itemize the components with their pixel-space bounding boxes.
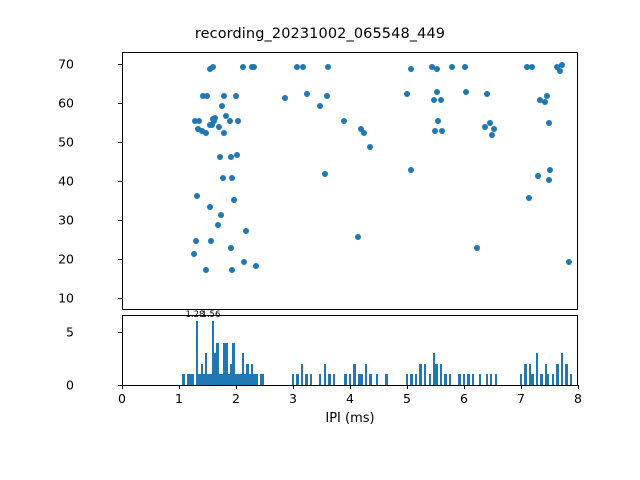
scatter-point (219, 103, 225, 109)
histogram-bar (262, 374, 264, 385)
scatter-point (489, 132, 495, 138)
x-tick-mark (293, 385, 294, 389)
scatter-point (408, 66, 414, 72)
x-axis-label: IPI (ms) (122, 411, 578, 426)
scatter-point (355, 234, 361, 240)
scatter-y-tick-label: 60 (34, 95, 74, 110)
scatter-point (432, 128, 438, 134)
scatter-point (253, 263, 259, 269)
scatter-point (542, 99, 548, 105)
histogram-y-tick-mark (118, 332, 122, 333)
scatter-point (282, 95, 288, 101)
histogram-bar (536, 353, 538, 385)
histogram-bar (495, 374, 497, 385)
scatter-point (233, 93, 239, 99)
scatter-point (408, 167, 414, 173)
scatter-point (566, 259, 572, 265)
scatter-point (544, 93, 550, 99)
x-tick-mark (236, 385, 237, 389)
x-tick-label: 6 (449, 391, 479, 406)
scatter-point (207, 204, 213, 210)
x-tick-mark (407, 385, 408, 389)
histogram-bar (547, 374, 549, 385)
scatter-point (367, 144, 373, 150)
scatter-point (221, 130, 227, 136)
histogram-bar (540, 374, 542, 385)
scatter-y-tick-mark (118, 64, 122, 65)
histogram-bar (310, 374, 312, 385)
histogram-bar (570, 374, 572, 385)
scatter-point (526, 195, 532, 201)
scatter-point (361, 130, 367, 136)
histogram-bar (435, 364, 437, 385)
histogram-bar (467, 374, 469, 385)
scatter-point (484, 91, 490, 97)
scatter-point (217, 154, 223, 160)
x-tick-label: 5 (392, 391, 422, 406)
scatter-point (216, 124, 222, 130)
x-tick-label: 7 (506, 391, 536, 406)
histogram-bar (410, 374, 412, 385)
histogram-axes (122, 315, 578, 385)
x-tick-label: 4 (335, 391, 365, 406)
histogram-series (123, 316, 577, 385)
histogram-bar (324, 364, 326, 385)
histogram-bar (292, 374, 294, 385)
scatter-point (243, 228, 249, 234)
scatter-y-tick-label: 30 (34, 213, 74, 228)
x-tick-mark (521, 385, 522, 389)
histogram-bar (463, 374, 465, 385)
scatter-point (300, 64, 306, 70)
scatter-y-tick-label: 20 (34, 252, 74, 267)
scatter-point (322, 171, 328, 177)
scatter-point (196, 118, 202, 124)
scatter-point (434, 89, 440, 95)
scatter-point (491, 126, 497, 132)
scatter-point (546, 120, 552, 126)
histogram-bar (472, 374, 474, 385)
histogram-bar (385, 374, 387, 385)
scatter-point (304, 91, 310, 97)
scatter-point (431, 97, 437, 103)
scatter-point (240, 64, 246, 70)
x-tick-label: 3 (278, 391, 308, 406)
histogram-bar (333, 374, 335, 385)
histogram-bar (449, 374, 451, 385)
scatter-point (324, 93, 330, 99)
scatter-y-tick-label: 70 (34, 56, 74, 71)
scatter-point (194, 193, 200, 199)
x-tick-label: 2 (221, 391, 251, 406)
scatter-point (234, 152, 240, 158)
scatter-y-tick-mark (118, 220, 122, 221)
scatter-y-tick-label: 40 (34, 174, 74, 189)
scatter-point (434, 66, 440, 72)
histogram-bar (524, 364, 526, 385)
histogram-bar (305, 374, 307, 385)
scatter-point (215, 222, 221, 228)
scatter-point (191, 251, 197, 257)
histogram-bar (182, 374, 184, 385)
x-tick-mark (122, 385, 123, 389)
scatter-point (221, 93, 227, 99)
histogram-bar (552, 374, 554, 385)
scatter-point (474, 245, 480, 251)
scatter-point (229, 267, 235, 273)
histogram-bar (424, 364, 426, 385)
scatter-y-tick-mark (118, 298, 122, 299)
scatter-point (241, 259, 247, 265)
x-tick-label: 1 (164, 391, 194, 406)
histogram-bar (349, 374, 351, 385)
scatter-point (193, 238, 199, 244)
histogram-bar (419, 364, 421, 385)
peak-value-label: 1.56 (201, 310, 220, 320)
scatter-point (557, 68, 563, 74)
scatter-point (462, 64, 468, 70)
histogram-bar (191, 374, 193, 385)
histogram-bar (255, 374, 257, 385)
histogram-bar (520, 374, 522, 385)
scatter-point (317, 103, 323, 109)
histogram-bar (328, 374, 330, 385)
histogram-bar (458, 374, 460, 385)
scatter-y-tick-label: 50 (34, 134, 74, 149)
scatter-point (210, 64, 216, 70)
scatter-y-tick-mark (118, 103, 122, 104)
histogram-bar (365, 364, 367, 385)
scatter-point (220, 175, 226, 181)
page-title: recording_20231002_065548_449 (0, 26, 640, 42)
scatter-point (463, 89, 469, 95)
scatter-point (546, 177, 552, 183)
scatter-point (229, 175, 235, 181)
scatter-point (228, 245, 234, 251)
histogram-bar (561, 353, 563, 385)
histogram-bar (344, 374, 346, 385)
histogram-bar (353, 364, 355, 385)
scatter-point (212, 115, 218, 121)
histogram-bar (490, 374, 492, 385)
histogram-bar (369, 374, 371, 385)
figure-canvas: recording_20231002_065548_449 t (s) 1020… (0, 0, 640, 480)
scatter-point (203, 130, 209, 136)
scatter-point (435, 118, 441, 124)
x-tick-label: 8 (563, 391, 593, 406)
scatter-point (204, 93, 210, 99)
histogram-bar (440, 364, 442, 385)
scatter-point (449, 64, 455, 70)
scatter-point (325, 64, 331, 70)
histogram-bar (319, 374, 321, 385)
x-tick-mark (464, 385, 465, 389)
x-tick-label: 0 (107, 391, 137, 406)
scatter-point (218, 212, 224, 218)
scatter-point (547, 167, 553, 173)
scatter-y-tick-label: 10 (34, 291, 74, 306)
histogram-bar (301, 364, 303, 385)
scatter-point (208, 238, 214, 244)
scatter-point (203, 267, 209, 273)
histogram-y-tick-label: 5 (34, 324, 74, 339)
scatter-point (438, 97, 444, 103)
histogram-bar (376, 374, 378, 385)
x-tick-mark (578, 385, 579, 389)
scatter-y-tick-mark (118, 259, 122, 260)
scatter-y-tick-mark (118, 181, 122, 182)
x-tick-mark (179, 385, 180, 389)
histogram-bar (556, 364, 558, 385)
scatter-series (123, 53, 577, 309)
histogram-bar (486, 374, 488, 385)
histogram-bar (360, 374, 362, 385)
histogram-bar (531, 374, 533, 385)
histogram-bar (429, 374, 431, 385)
scatter-point (404, 91, 410, 97)
scatter-point (341, 118, 347, 124)
histogram-y-tick-label: 0 (34, 378, 74, 393)
histogram-bar (406, 374, 408, 385)
scatter-point (235, 118, 241, 124)
scatter-point (439, 128, 445, 134)
scatter-point (559, 62, 565, 68)
histogram-bar (444, 374, 446, 385)
histogram-bar (415, 374, 417, 385)
scatter-y-tick-mark (118, 142, 122, 143)
scatter-point (529, 64, 535, 70)
histogram-bar (565, 364, 567, 385)
scatter-point (231, 197, 237, 203)
scatter-point (535, 173, 541, 179)
x-tick-mark (350, 385, 351, 389)
histogram-bar (479, 374, 481, 385)
scatter-point (251, 64, 257, 70)
histogram-bar (296, 374, 298, 385)
scatter-point (227, 118, 233, 124)
scatter-plot-axes (122, 52, 578, 310)
scatter-point (294, 64, 300, 70)
